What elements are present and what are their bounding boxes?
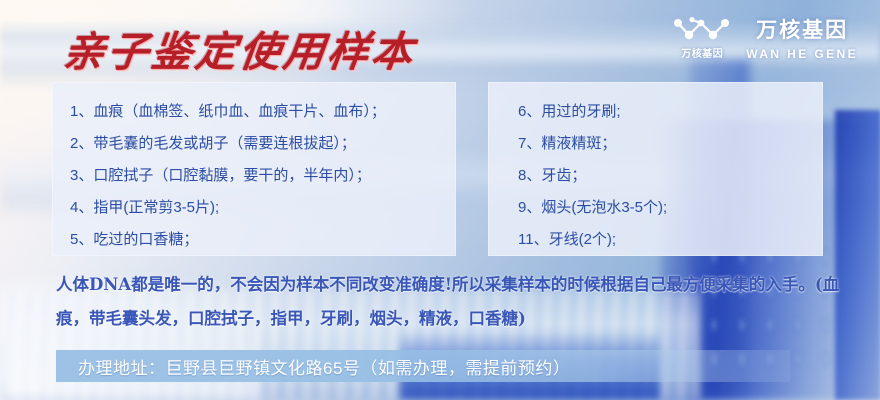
sample-list-left: 1、血痕（血棉签、纸巾血、血痕干片、血布）； 2、带毛囊的毛发或胡子（需要连根拔… <box>52 82 456 247</box>
address-banner: 办理地址：巨野县巨野镇文化路65号（如需办理，需提前预约） <box>56 350 790 382</box>
brand-logo: 万核基因 万核基因 WAN HE GENE <box>672 14 858 61</box>
list-item: 2、带毛囊的毛发或胡子（需要连根拔起）； <box>70 136 456 151</box>
list-item: 1、血痕（血棉签、纸巾血、血痕干片、血布）； <box>70 104 456 119</box>
list-item: 11、牙线(2个); <box>518 232 823 247</box>
brand-wordmark: 万核基因 WAN HE GENE <box>746 14 858 61</box>
sample-list-left-panel: 1、血痕（血棉签、纸巾血、血痕干片、血布）； 2、带毛囊的毛发或胡子（需要连根拔… <box>52 82 456 256</box>
list-item: 7、精液精斑； <box>518 136 823 151</box>
logo-mark-caption: 万核基因 <box>681 45 723 60</box>
poster-canvas: 亲子鉴定使用样本 <box>0 0 880 400</box>
list-item: 4、指甲(正常剪3-5片); <box>70 200 456 215</box>
list-item: 9、烟头(无泡水3-5个); <box>518 200 823 215</box>
sample-list-right-panel: 6、用过的牙刷; 7、精液精斑； 8、牙齿； 9、烟头(无泡水3-5个); 11… <box>488 82 823 256</box>
sample-list-right: 6、用过的牙刷; 7、精液精斑； 8、牙齿； 9、烟头(无泡水3-5个); 11… <box>488 82 823 247</box>
list-item: 6、用过的牙刷; <box>518 104 823 119</box>
page-title: 亲子鉴定使用样本 <box>60 18 419 78</box>
description-paragraph: 人体DNA都是唯一的，不会因为样本不同改变准确度!所以采集样本的时候根据自己最方… <box>56 268 846 336</box>
address-banner-text: 办理地址：巨野县巨野镇文化路65号（如需办理，需提前预约） <box>56 354 570 379</box>
logo-mark: 万核基因 <box>672 16 732 60</box>
brand-name-cn: 万核基因 <box>756 14 848 44</box>
list-item: 5、吃过的口香糖； <box>70 232 456 247</box>
list-item: 8、牙齿； <box>518 168 823 183</box>
molecule-network-icon <box>672 16 732 42</box>
list-item: 3、口腔拭子（口腔黏膜，要干的，半年内）； <box>70 168 456 183</box>
brand-name-en: WAN HE GENE <box>746 47 858 61</box>
